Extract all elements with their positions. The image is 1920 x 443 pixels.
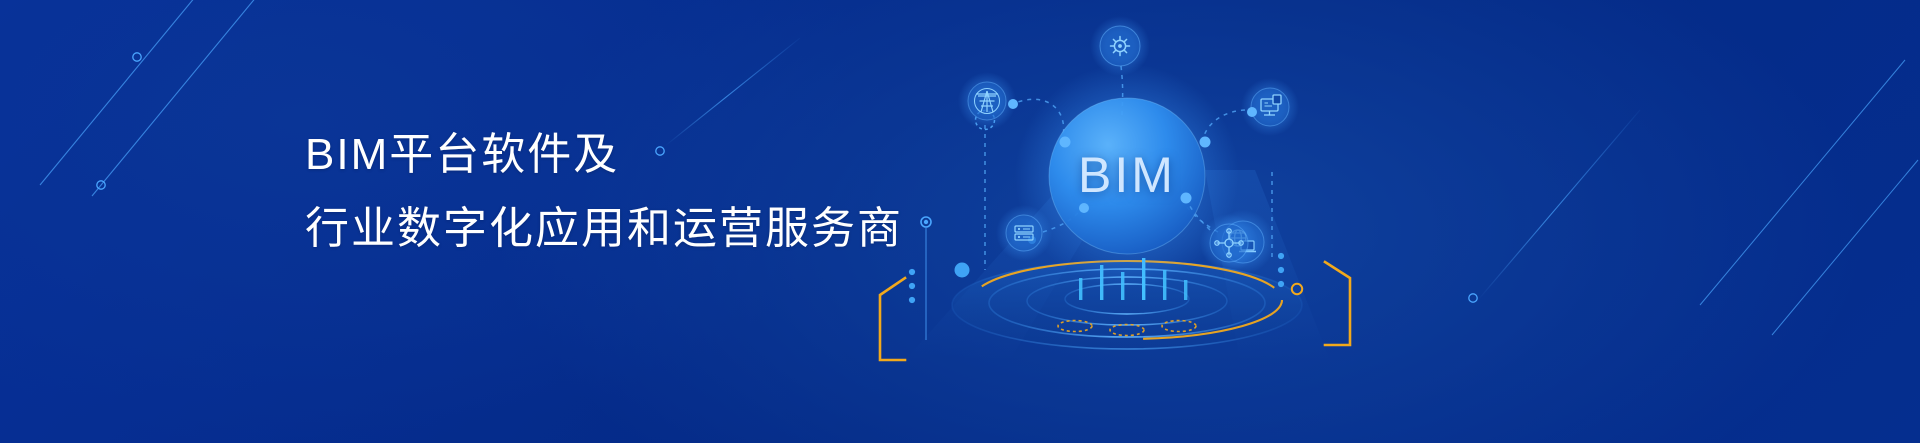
bim-illustration-extra bbox=[0, 0, 1920, 443]
connector-endpoint-dot bbox=[1079, 203, 1089, 213]
hero-banner: BIM平台软件及 行业数字化应用和运营服务商 bbox=[0, 0, 1920, 443]
connector-endpoint-dot bbox=[1200, 137, 1211, 148]
connector-endpoint-dot bbox=[1060, 137, 1071, 148]
node-settings-gear[interactable] bbox=[1200, 214, 1258, 272]
connector-endpoint-dot bbox=[1247, 107, 1257, 117]
connector-endpoint-dot bbox=[1181, 193, 1192, 204]
node-bubble bbox=[1210, 224, 1248, 262]
connector-endpoint-dot bbox=[1008, 99, 1018, 109]
